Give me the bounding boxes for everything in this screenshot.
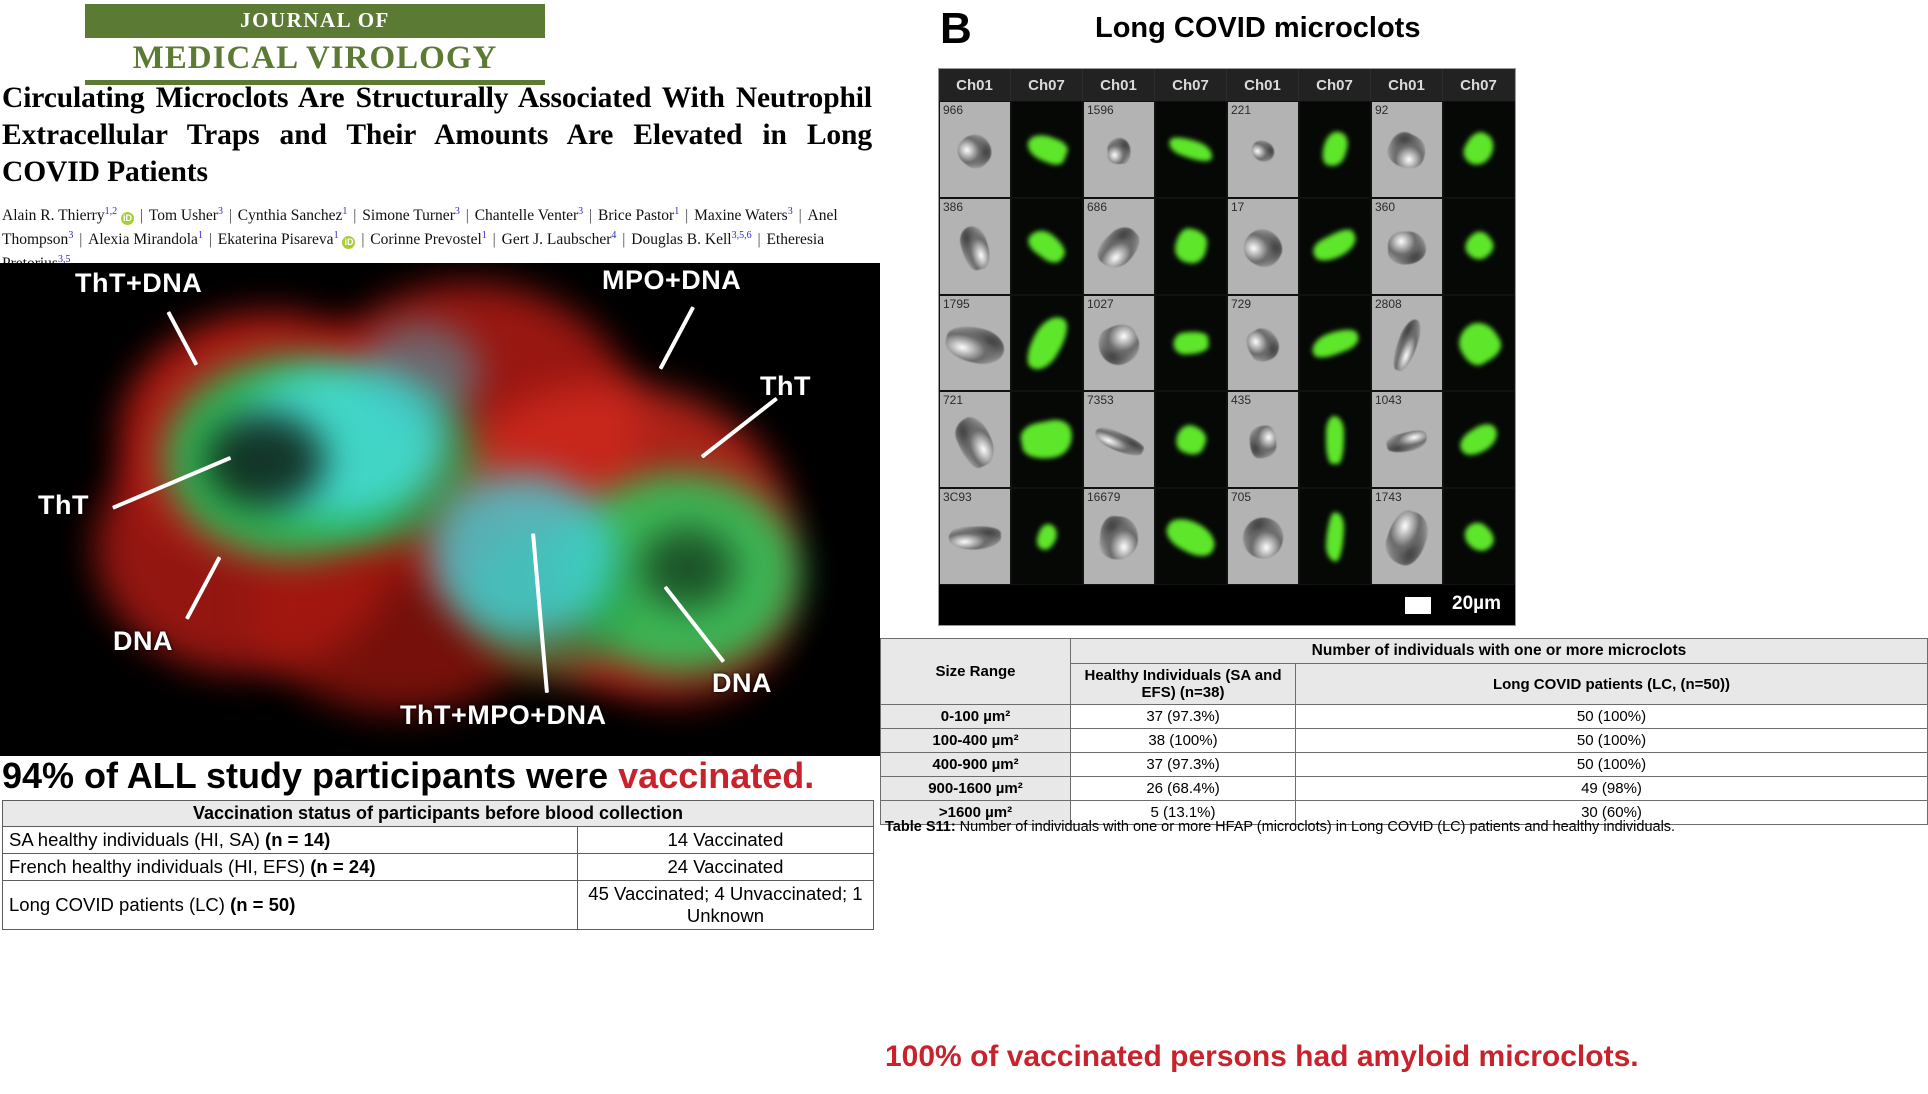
microclot-shape [1248,137,1278,166]
brightfield-cell[interactable]: 729 [1227,295,1299,392]
author-entry: Corinne Prevostel [370,231,482,248]
fluorescence-cell[interactable] [1443,295,1515,392]
gallery-channel-label: Ch01 [1083,69,1155,101]
author-entry: Brice Pastor [598,207,674,224]
s11-lc-value-cell: 49 (98%) [1296,777,1928,801]
cell-object-id: 435 [1231,393,1251,407]
cell-object-id: 7353 [1087,393,1114,407]
author-separator: | [203,231,218,248]
microclot-shape [1173,331,1210,356]
s11-col-healthy-header: Healthy Individuals (SA and EFS) (n=38) [1071,664,1296,705]
fluorescence-cell[interactable] [1443,488,1515,585]
gallery-row: 966159622192 [939,101,1515,198]
author-entry: Douglas B. Kell [631,231,731,248]
orcid-icon[interactable]: iD [342,236,355,249]
brightfield-cell[interactable]: 2808 [1371,295,1443,392]
s11-col-size-header: Size Range [881,639,1071,705]
fluorescence-cell[interactable] [1155,391,1227,488]
left-panel: JOURNAL OF MEDICAL VIROLOGY Circulating … [0,0,880,1094]
author-entry: Alain R. Thierry [2,207,105,224]
microclot-shape [1092,221,1147,275]
author-separator: | [347,207,362,224]
author-separator: | [679,207,694,224]
author-entry: Alexia Mirandola [88,231,198,248]
microclot-shape [1173,227,1209,266]
scalebar-label: 20µm [1452,593,1501,615]
table-row: 100-400 µm²38 (100%)50 (100%) [881,729,1928,753]
brightfield-cell[interactable]: 1027 [1083,295,1155,392]
microclot-shape [1452,316,1506,370]
author-separator: | [460,207,475,224]
microclot-shape [1389,316,1425,373]
cell-object-id: 3C93 [943,490,972,504]
microclot-shape [950,412,1000,472]
s11-size-cell: 0-100 µm² [881,705,1071,729]
cell-object-id: 966 [943,103,963,117]
fluorescence-cell[interactable] [1299,391,1371,488]
author-affiliation-marker: 3,5,6 [732,230,752,241]
fluorescence-cell[interactable] [1443,391,1515,488]
fluorescence-cell[interactable] [1155,101,1227,198]
cell-object-id: 92 [1375,103,1388,117]
gallery-channel-header-row: Ch01Ch07Ch01Ch07Ch01Ch07Ch01Ch07 [939,69,1515,101]
cell-object-id: 705 [1231,490,1251,504]
cell-object-id: 386 [943,200,963,214]
cell-object-id: 2808 [1375,297,1402,311]
vaccination-group-n: (n = 24) [310,856,375,877]
s11-healthy-value-cell: 26 (68.4%) [1071,777,1296,801]
vaccination-headline: 94% of ALL study participants were vacci… [2,755,878,797]
brightfield-cell[interactable]: 17 [1227,198,1299,295]
orcid-icon[interactable]: iD [121,212,134,225]
author-separator: | [583,207,598,224]
table-row: Long COVID patients (LC) (n = 50)45 Vacc… [3,881,874,930]
fluorescence-cell[interactable] [1011,295,1083,392]
microclot-shape [952,128,998,174]
vaccination-status-cell: 14 Vaccinated [577,827,873,854]
brightfield-cell[interactable]: 435 [1227,391,1299,488]
microclot-shape [1460,228,1497,265]
panel-letter-b: B [940,4,972,54]
vaccination-table-header: Vaccination status of participants befor… [3,801,874,827]
brightfield-cell[interactable]: 221 [1227,101,1299,198]
gallery-channel-label: Ch07 [1299,69,1371,101]
cell-object-id: 1027 [1087,297,1114,311]
author-separator: | [134,207,149,224]
fluorescence-cell[interactable] [1011,101,1083,198]
vaccination-table-head: Vaccination status of participants befor… [3,801,874,827]
microclot-shape [1383,128,1431,175]
cell-object-id: 17 [1231,200,1244,214]
table-row: Size Range Number of individuals with on… [881,639,1928,664]
table-row: 400-900 µm²37 (97.3%)50 (100%) [881,753,1928,777]
s11-size-cell: 400-900 µm² [881,753,1071,777]
vaccination-status-table: Vaccination status of participants befor… [2,800,874,930]
s11-lc-value-cell: 50 (100%) [1296,753,1928,777]
gallery-row: 3C93166797051743 [939,488,1515,585]
microclot-shape [1325,512,1345,562]
microclot-shape [949,526,1002,551]
microclot-shape [1167,134,1215,166]
microclot-shape [1237,223,1289,274]
fluorescence-cell[interactable] [1443,198,1515,295]
vaccination-table-body: SA healthy individuals (HI, SA) (n = 14)… [3,827,874,930]
fluorescence-cell[interactable] [1299,101,1371,198]
brightfield-cell[interactable]: 3C93 [939,488,1011,585]
microclot-shape [1107,138,1131,165]
gallery-channel-label: Ch07 [1155,69,1227,101]
brightfield-cell[interactable]: 966 [939,101,1011,198]
cell-object-id: 1743 [1375,490,1402,504]
table-row: 0-100 µm²37 (97.3%)50 (100%) [881,705,1928,729]
fluorescence-cell[interactable] [1299,295,1371,392]
brightfield-cell[interactable]: 705 [1227,488,1299,585]
right-panel: B Long COVID microclots Ch01Ch07Ch01Ch07… [880,0,1928,1094]
microclot-shape [1459,517,1498,556]
author-affiliation-marker: 1 [334,230,339,241]
author-separator: | [793,207,808,224]
cell-object-id: 686 [1087,200,1107,214]
cell-object-id: 1596 [1087,103,1114,117]
microclot-shape [1319,129,1352,169]
gallery-image-rows: 9661596221923866861736017951027729280872… [939,101,1515,585]
cell-object-id: 1795 [943,297,970,311]
brightfield-cell[interactable]: 1795 [939,295,1011,392]
micrograph-label: MPO+DNA [602,265,741,296]
cell-object-id: 16679 [1087,490,1120,504]
author-entry: Chantelle Venter [475,207,578,224]
author-separator: | [487,231,502,248]
s11-table-body: 0-100 µm²37 (97.3%)50 (100%)100-400 µm²3… [881,705,1928,825]
fluorescence-cell[interactable] [1155,295,1227,392]
micrograph-label: ThT [38,490,89,521]
fluorescence-cell[interactable] [1299,198,1371,295]
gallery-channel-label: Ch07 [1011,69,1083,101]
gallery-row: 72173534351043 [939,391,1515,488]
s11-table-caption: Table S11: Number of individuals with on… [885,818,1915,837]
brightfield-cell[interactable]: 386 [939,198,1011,295]
microclot-shape [1172,421,1209,458]
s11-col-lc-header: Long COVID patients (LC, (n=50)) [1296,664,1928,705]
journal-masthead: JOURNAL OF MEDICAL VIROLOGY [85,4,545,85]
author-separator: | [616,231,631,248]
fluorescence-cell[interactable] [1155,488,1227,585]
micrograph-label: DNA [113,626,173,657]
table-row: 900-1600 µm²26 (68.4%)49 (98%) [881,777,1928,801]
cell-object-id: 360 [1375,200,1395,214]
journal-band-label: JOURNAL OF [85,4,545,38]
scalebar-box-icon [1405,597,1431,614]
author-affiliation-marker: 1,2 [105,206,118,217]
microclot-shape [1018,417,1075,463]
microclot-shape [1388,232,1426,265]
microclot-shape [1024,225,1070,267]
s11-healthy-value-cell: 37 (97.3%) [1071,753,1296,777]
cell-object-id: 1043 [1375,393,1402,407]
poster-root: JOURNAL OF MEDICAL VIROLOGY Circulating … [0,0,1928,1094]
gallery-channel-label: Ch01 [939,69,1011,101]
microclot-shape [1456,419,1503,461]
microclot-shape [1092,423,1146,459]
brightfield-cell[interactable]: 721 [939,391,1011,488]
vaccination-status-cell: 45 Vaccinated; 4 Unvaccinated; 1 Unknown [577,881,873,930]
author-entry: Ekaterina Pisareva [218,231,334,248]
vaccination-status-cell: 24 Vaccinated [577,854,873,881]
author-separator: | [355,231,370,248]
table-row: French healthy individuals (HI, EFS) (n … [3,854,874,881]
table-row: Vaccination status of participants befor… [3,801,874,827]
microclot-shape [1459,128,1499,170]
brightfield-cell[interactable]: 7353 [1083,391,1155,488]
author-entry: Maxine Waters [694,207,788,224]
fluorescence-cell[interactable] [1443,101,1515,198]
fluorescence-cell[interactable] [1155,198,1227,295]
micrograph-label: DNA [712,668,772,699]
s11-healthy-value-cell: 37 (97.3%) [1071,705,1296,729]
author-entry: Gert J. Laubscher [502,231,612,248]
fluorescence-micrograph: ThT+DNAMPO+DNAThTThTDNADNAThT+MPO+DNA [0,263,880,756]
s11-caption-label: Table S11: [885,819,956,835]
brightfield-cell[interactable]: 686 [1083,198,1155,295]
microclot-shape [1309,324,1362,361]
vaccination-group-n: (n = 14) [265,829,330,850]
micrograph-label: ThT+MPO+DNA [400,700,607,731]
s11-group-header: Number of individuals with one or more m… [1071,639,1928,664]
vaccination-group-cell: Long COVID patients (LC) (n = 50) [3,881,578,930]
author-entry: Simone Turner [362,207,455,224]
author-entry: Tom Usher [149,207,218,224]
brightfield-cell[interactable]: 360 [1371,198,1443,295]
microclot-shape [1098,515,1140,561]
microclot-shape [1385,428,1429,456]
vaccination-group-cell: SA healthy individuals (HI, SA) (n = 14) [3,827,578,854]
s11-lc-value-cell: 50 (100%) [1296,705,1928,729]
vaccination-group-cell: French healthy individuals (HI, EFS) (n … [3,854,578,881]
micrograph-label: ThT [760,371,811,402]
microclot-image-gallery: Ch01Ch07Ch01Ch07Ch01Ch07Ch01Ch07 9661596… [938,68,1516,626]
headline-emphasis: vaccinated. [618,755,814,796]
panel-b-caption: Long COVID microclots [1095,12,1420,45]
headline-prefix: 94% of ALL study participants were [2,755,618,796]
s11-microclot-table: Size Range Number of individuals with on… [880,638,1928,825]
author-separator: | [73,231,88,248]
footer-statement: 100% of vaccinated persons had amyloid m… [885,1040,1925,1074]
s11-size-cell: 100-400 µm² [881,729,1071,753]
s11-size-cell: 900-1600 µm² [881,777,1071,801]
fluorescence-cell[interactable] [1299,488,1371,585]
table-row: SA healthy individuals (HI, SA) (n = 14)… [3,827,874,854]
brightfield-cell[interactable]: 1743 [1371,488,1443,585]
brightfield-cell[interactable]: 1596 [1083,101,1155,198]
microclot-shape [1310,226,1361,267]
fluorescence-cell[interactable] [1011,198,1083,295]
s11-healthy-value-cell: 38 (100%) [1071,729,1296,753]
brightfield-cell[interactable]: 16679 [1083,488,1155,585]
author-separator: | [223,207,238,224]
micrograph-label: ThT+DNA [75,268,202,299]
microclot-shape [956,223,993,272]
microclot-shape [1381,507,1434,570]
cell-object-id: 721 [943,393,963,407]
microclot-shape [1093,319,1146,371]
author-separator: | [752,231,767,248]
scalebar: 20µm [939,585,1515,625]
microclot-shape [1020,311,1074,376]
gallery-row: 179510277292808 [939,295,1515,392]
gallery-channel-label: Ch01 [1227,69,1299,101]
author-affiliation-marker: 3 [788,206,793,217]
s11-lc-value-cell: 50 (100%) [1296,729,1928,753]
gallery-channel-label: Ch07 [1443,69,1515,101]
s11-caption-text: Number of individuals with one or more H… [956,819,1675,835]
microclot-shape [1326,416,1344,464]
cell-object-id: 221 [1231,103,1251,117]
microclot-shape [1242,323,1285,367]
brightfield-cell[interactable]: 92 [1371,101,1443,198]
fluorescence-cell[interactable] [1011,488,1083,585]
fluorescence-cell[interactable] [1011,391,1083,488]
author-entry: Cynthia Sanchez [238,207,343,224]
microclot-shape [1024,131,1070,169]
microclot-shape [1034,521,1060,552]
gallery-row: 38668617360 [939,198,1515,295]
page-title: Circulating Microclots Are Structurally … [2,80,872,191]
microclot-shape [942,321,1007,368]
microclot-shape [1249,424,1278,458]
brightfield-cell[interactable]: 1043 [1371,391,1443,488]
journal-name-label: MEDICAL VIROLOGY [85,38,545,78]
cell-object-id: 729 [1231,297,1251,311]
microclot-shape [1238,513,1288,564]
microclot-shape [1161,511,1220,561]
gallery-channel-label: Ch01 [1371,69,1443,101]
s11-table-head: Size Range Number of individuals with on… [881,639,1928,705]
arrow-mpo-dna [659,306,695,370]
vaccination-group-n: (n = 50) [230,894,295,915]
